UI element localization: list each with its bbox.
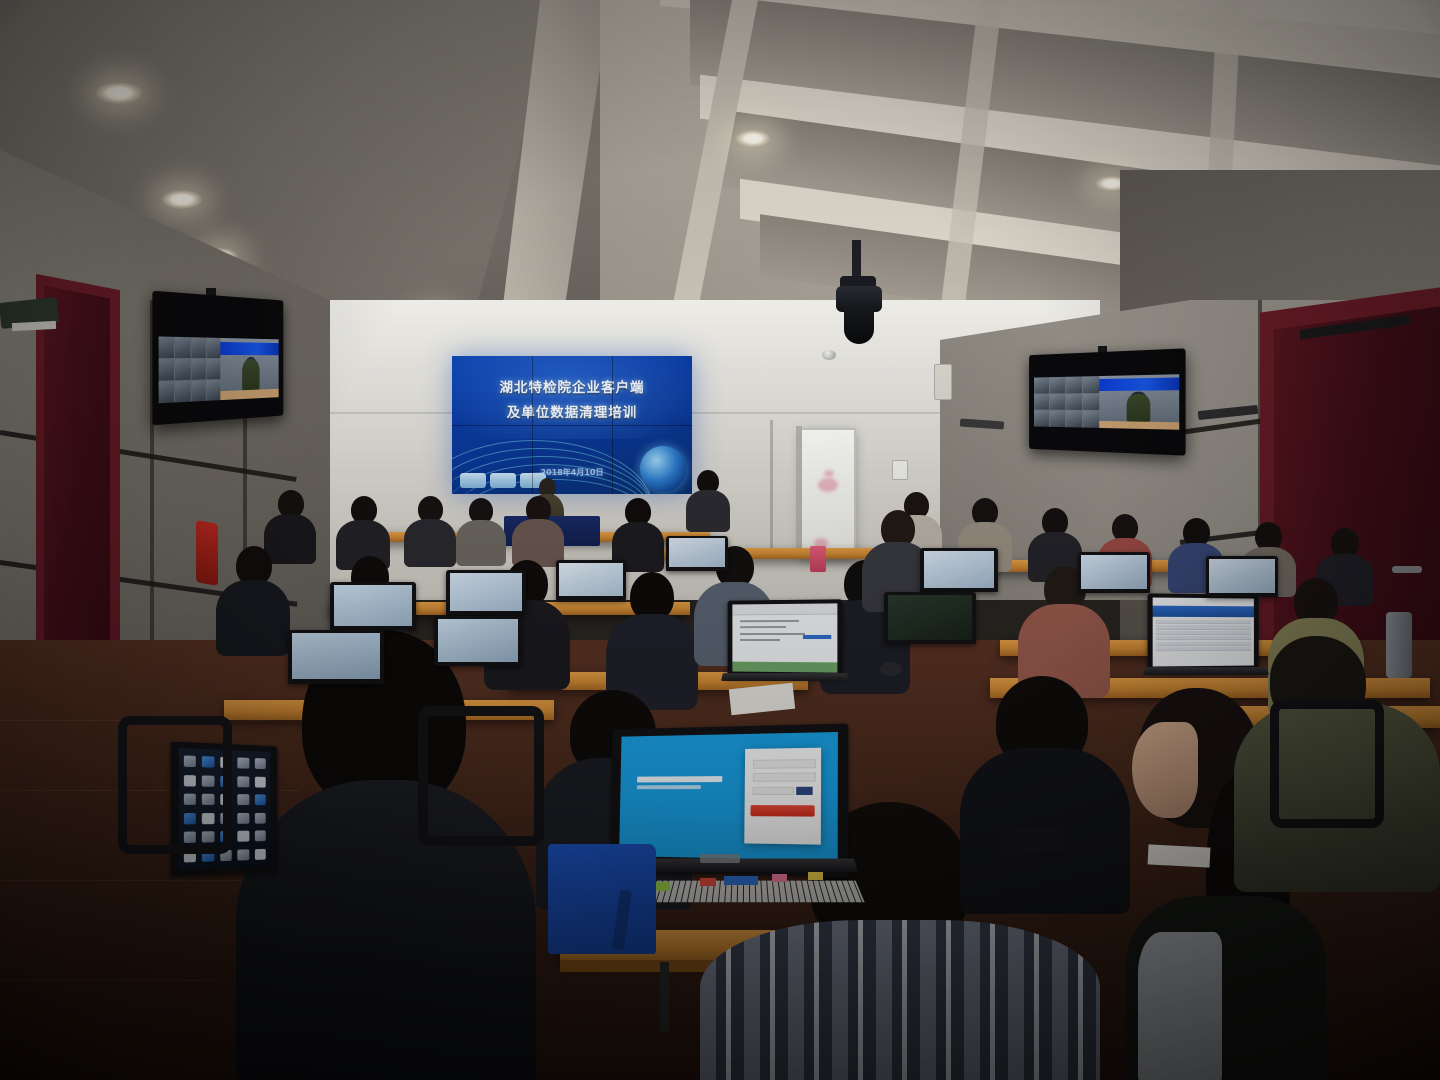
doc-statusbar xyxy=(732,662,837,672)
whiteboard-marking-1 xyxy=(818,478,838,492)
chair-1[interactable] xyxy=(118,716,232,854)
login-card[interactable] xyxy=(744,748,821,845)
laptop-row-a2[interactable] xyxy=(446,570,526,622)
right-laptop-screen[interactable] xyxy=(1153,598,1254,667)
left-monitor-desk xyxy=(221,389,279,400)
attendee-b7 xyxy=(686,470,730,530)
center-laptop-base xyxy=(721,673,849,681)
ceiling-dome-camera xyxy=(822,350,836,360)
doc-text-line-1 xyxy=(741,620,799,622)
laptop-row-a9[interactable] xyxy=(434,616,522,674)
right-laptop[interactable] xyxy=(1148,594,1266,686)
right-monitor-main-feed xyxy=(1099,374,1179,430)
right-laptop-base xyxy=(1143,667,1269,675)
keyboard-sticker-blue xyxy=(724,876,758,885)
whiteboard-marking-2 xyxy=(824,470,834,477)
doc-text-line-3 xyxy=(741,633,806,635)
laptop-row-a1-screen[interactable] xyxy=(334,585,412,626)
laptop-row-a5-screen[interactable] xyxy=(924,551,994,588)
doc-highlight xyxy=(803,635,831,638)
pink-cup xyxy=(810,546,826,572)
attendee-b3-body xyxy=(404,519,456,567)
laptop-row-a2-screen[interactable] xyxy=(450,573,522,611)
classroom-photo: 湖北特检院企业客户端 及单位数据清理培训 2018年4月10日 xyxy=(0,0,1440,1080)
right-wall-speaker xyxy=(934,364,952,400)
doc-text-line-2 xyxy=(741,626,787,628)
right-monitor-thumbnail-grid xyxy=(1034,376,1099,428)
laptop-row-a6-screen[interactable] xyxy=(1081,555,1147,589)
left-wall-extinguisher xyxy=(196,520,218,586)
spreadsheet-row-2[interactable] xyxy=(1156,625,1251,630)
right-monitor-person-body xyxy=(1127,393,1151,421)
attendee-b3 xyxy=(404,496,456,564)
center-laptop-screen[interactable] xyxy=(732,603,837,672)
left-monitor-banner xyxy=(221,342,279,356)
downlight-1 xyxy=(96,82,142,104)
laptop-row-a6[interactable] xyxy=(1078,552,1150,600)
attendee-b5 xyxy=(512,496,564,564)
attendee-f3-face xyxy=(1132,722,1198,818)
floor-plank-4 xyxy=(0,980,220,981)
video-wall: 湖北特检院企业客户端 及单位数据清理培训 2018年4月10日 xyxy=(452,356,692,494)
downlight-6 xyxy=(736,130,770,147)
foreground-laptop-screen[interactable] xyxy=(619,732,838,861)
laptop-row-a8[interactable] xyxy=(288,630,384,692)
right-wall-monitor xyxy=(1029,348,1185,455)
attendee-b6 xyxy=(612,498,664,568)
left-monitor-screen xyxy=(159,336,279,403)
right-monitor-desk xyxy=(1099,421,1179,430)
desk-leg-1 xyxy=(660,962,669,1032)
right-laptop-spreadsheet-header xyxy=(1153,606,1254,617)
left-monitor-person-body xyxy=(242,359,259,390)
spreadsheet-row-4[interactable] xyxy=(1156,636,1251,641)
attendee-f5 xyxy=(960,676,1130,906)
slide-date-text: 2018年4月10日 xyxy=(452,467,692,478)
doc-text-line-4 xyxy=(741,639,780,641)
laptop-row-a7[interactable] xyxy=(1206,556,1278,604)
attendee-b4 xyxy=(456,498,506,564)
laptop-row-a4[interactable] xyxy=(666,536,728,576)
keyboard-sticker-pink xyxy=(772,874,787,882)
spreadsheet-row-6[interactable] xyxy=(1156,647,1251,652)
login-username-field[interactable] xyxy=(752,759,815,768)
center-laptop-toolbar[interactable] xyxy=(732,603,837,614)
laptop-row-a10-screen[interactable] xyxy=(888,595,972,640)
chair-2[interactable] xyxy=(418,706,544,846)
laptop-row-a3[interactable] xyxy=(556,560,626,606)
login-captcha-image[interactable] xyxy=(796,786,813,795)
attendee-b7-body xyxy=(686,490,730,532)
mouse[interactable] xyxy=(880,662,902,676)
phone-on-desk[interactable] xyxy=(999,825,1065,856)
right-monitor-banner xyxy=(1099,378,1179,391)
login-brand-text xyxy=(637,776,730,792)
ptz-camera-lens-housing xyxy=(844,308,874,344)
right-monitor-screen xyxy=(1034,374,1179,430)
keyboard-sticker-red xyxy=(700,878,716,886)
left-wall-monitor xyxy=(152,291,283,426)
laptop-row-a4-screen[interactable] xyxy=(669,538,725,567)
spreadsheet-row-5[interactable] xyxy=(1156,641,1251,646)
back-wall-panel-seam-1 xyxy=(770,420,773,550)
right-door-handle[interactable] xyxy=(1392,566,1422,573)
spreadsheet-row-3[interactable] xyxy=(1156,631,1251,635)
paper-sheet-2 xyxy=(1148,844,1211,867)
laptop-row-a7-screen[interactable] xyxy=(1209,559,1275,593)
keyboard-sticker-yellow xyxy=(808,872,823,880)
laptop-row-a3-screen[interactable] xyxy=(559,563,623,596)
thermos-bottle xyxy=(1386,612,1412,678)
left-monitor-main-feed xyxy=(221,338,279,400)
attendee-f3-shirt xyxy=(1138,932,1222,1080)
spreadsheet-row-1[interactable] xyxy=(1156,620,1251,625)
foreground-laptop-brand-acer xyxy=(700,854,740,863)
login-submit-button[interactable] xyxy=(751,805,816,816)
login-captcha-field[interactable] xyxy=(752,786,794,795)
wall-switch-panel[interactable] xyxy=(892,460,908,480)
slide-title-line-2: 及单位数据清理培训 xyxy=(452,401,692,421)
laptop-row-a8-screen[interactable] xyxy=(292,633,380,679)
downlight-2 xyxy=(162,190,202,209)
center-laptop[interactable] xyxy=(726,600,846,692)
slide-title-line-1: 湖北特检院企业客户端 xyxy=(452,376,692,396)
whiteboard-frame xyxy=(796,426,802,556)
blue-bag xyxy=(548,844,656,954)
chair-3[interactable] xyxy=(1270,700,1384,828)
left-monitor-thumbnail-grid xyxy=(159,336,221,403)
whiteboard[interactable] xyxy=(800,428,856,558)
login-password-field[interactable] xyxy=(752,773,815,782)
laptop-row-a10[interactable] xyxy=(884,592,976,652)
laptop-row-a9-screen[interactable] xyxy=(438,619,518,662)
video-wall-seam-h1 xyxy=(452,425,692,426)
attendee-f2-body xyxy=(700,920,1100,1080)
